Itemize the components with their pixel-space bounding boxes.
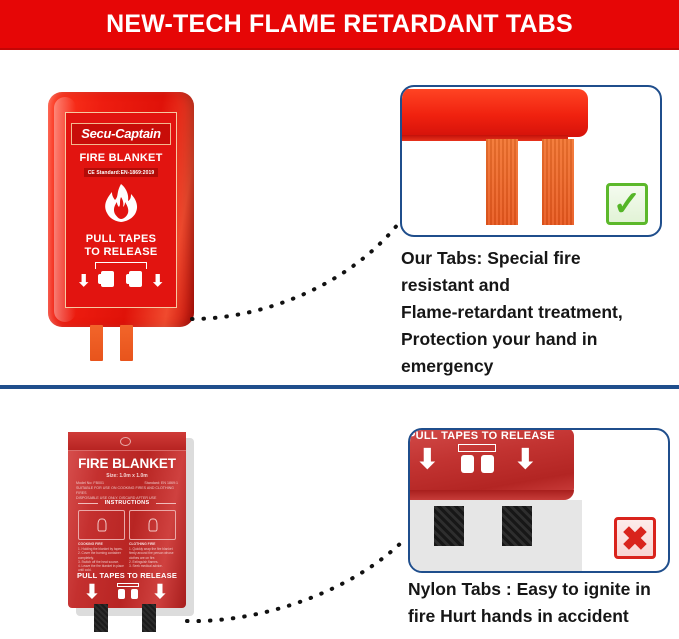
- red-cross-icon: ✖: [614, 517, 656, 559]
- zoom-black-tab-left: [434, 506, 464, 546]
- brand-logo-plate: Secu-Captain: [71, 123, 171, 145]
- caption-line: Our Tabs: Special fire: [401, 245, 679, 272]
- ce-standard-text: CE Standard:EN-1869:2019: [84, 168, 159, 177]
- connector-line-top: [190, 215, 415, 330]
- instructions-heading: INSTRUCTIONS: [78, 500, 176, 506]
- hand-pull-icon-left: [461, 455, 474, 473]
- down-arrow-icon-right: ⬇: [152, 583, 168, 602]
- instruction-step: 3. Seek medical advice.: [129, 564, 176, 568]
- zoom-orange-tab-right: [542, 139, 574, 225]
- caption-line: Protection your hand in: [401, 326, 679, 353]
- header-banner: NEW-TECH FLAME RETARDANT TABS: [0, 0, 679, 50]
- hand-pull-icon-right: [481, 455, 494, 473]
- case-front-label: Secu-Captain FIRE BLANKET CE Standard:EN…: [65, 112, 177, 308]
- green-check-icon: ✓: [606, 183, 648, 225]
- bracket-graphic: [117, 583, 139, 587]
- black-tab-left: [94, 604, 108, 632]
- pouch-size-text: Size: 1.0m x 1.0m: [68, 473, 186, 479]
- hang-hole-icon: [120, 437, 131, 446]
- down-arrow-icon-right: ⬇: [514, 446, 537, 472]
- pouch-body: FIRE BLANKET Size: 1.0m x 1.0m Model No:…: [68, 432, 186, 608]
- pouch-note-1: SUITABLE FOR USE ON COOKING FIRES AND CL…: [76, 486, 178, 496]
- callout-panel-good-tabs: ✓: [400, 85, 662, 237]
- instruction-title-clothing: CLOTHING FIRE: [129, 542, 176, 546]
- caption-line: emergency: [401, 353, 679, 380]
- caption-line: resistant and: [401, 272, 679, 299]
- brand-name: Secu-Captain: [77, 126, 165, 141]
- pouch-pull-text: PULL TAPES TO RELEASE: [68, 571, 186, 580]
- instruction-list-cooking: COOKING FIRE 1. Holding the blanket by t…: [78, 542, 125, 568]
- callout-panel-nylon-tabs: PULL TAPES TO RELEASE ⬇ ⬇ ✖: [408, 428, 670, 573]
- section-divider: [0, 385, 679, 389]
- bracket-graphic: [458, 444, 496, 452]
- connector-line-bottom: [185, 535, 420, 630]
- down-arrow-icon-left: ⬇: [84, 583, 100, 602]
- flame-icon: [99, 183, 143, 228]
- pull-tapes-line-1: PULL TAPES: [86, 233, 156, 246]
- black-tab-right: [142, 604, 156, 632]
- instruction-figure-clothing-fire: [129, 510, 176, 540]
- hand-pull-icon-pair: [115, 583, 141, 601]
- product-hard-case-fire-blanket: Secu-Captain FIRE BLANKET CE Standard:EN…: [48, 92, 194, 327]
- orange-tab-left: [90, 325, 103, 361]
- pull-instruction-icons: ⬇ ⬇: [71, 262, 171, 294]
- hand-pull-icon-right: [129, 271, 142, 287]
- page-title: NEW-TECH FLAME RETARDANT TABS: [106, 10, 573, 39]
- instruction-step: 1. Quickly wrap the fire blanket firmly …: [129, 547, 176, 560]
- product-name: FIRE BLANKET: [79, 152, 162, 164]
- infographic-page: NEW-TECH FLAME RETARDANT TABS Secu-Capta…: [0, 0, 679, 639]
- zoom-orange-tab-left: [486, 139, 518, 225]
- zoom-pull-text: PULL TAPES TO RELEASE: [408, 430, 555, 442]
- pouch-meta-block: Model No: FB001 Standard: EN 1869:1 SUIT…: [76, 481, 178, 501]
- hand-pull-icon-right: [131, 589, 138, 599]
- zoom-pouch-body: PULL TAPES TO RELEASE ⬇ ⬇: [408, 428, 574, 498]
- caption-nylon-tabs: Nylon Tabs : Easy to ignite in fire Hurt…: [408, 576, 679, 630]
- caption-line: Flame-retardant treatment,: [401, 299, 679, 326]
- product-soft-pouch-fire-blanket: FIRE BLANKET Size: 1.0m x 1.0m Model No:…: [68, 432, 188, 618]
- caption-line: fire Hurt hands in accident: [408, 603, 679, 630]
- hand-pull-icon-left: [101, 271, 114, 287]
- instruction-step: 2. Cover the burning container completel…: [78, 551, 125, 559]
- pouch-arrow-icons: ⬇ ⬇: [68, 581, 186, 605]
- instruction-figure-cooking-fire: [78, 510, 125, 540]
- bracket-graphic: [95, 262, 147, 269]
- caption-good-tabs: Our Tabs: Special fire resistant and Fla…: [401, 245, 679, 380]
- pull-tapes-line-2: TO RELEASE: [84, 246, 157, 259]
- hand-pull-icon-pair: [455, 444, 501, 478]
- caption-line: Nylon Tabs : Easy to ignite in: [408, 576, 679, 603]
- instruction-title-cooking: COOKING FIRE: [78, 542, 125, 546]
- instruction-list-clothing: CLOTHING FIRE 1. Quickly wrap the fire b…: [129, 542, 176, 568]
- zoom-case-edge: [400, 89, 588, 137]
- zoom-pouch-seam: [408, 490, 574, 500]
- zoom-black-tab-right: [502, 506, 532, 546]
- hand-pull-icon-left: [118, 589, 125, 599]
- orange-tab-right: [120, 325, 133, 361]
- instruction-text-lists: COOKING FIRE 1. Holding the blanket by t…: [78, 542, 176, 568]
- instruction-illustrations: [78, 510, 176, 540]
- down-arrow-icon-left: ⬇: [416, 446, 439, 472]
- pouch-product-name: FIRE BLANKET: [68, 456, 186, 471]
